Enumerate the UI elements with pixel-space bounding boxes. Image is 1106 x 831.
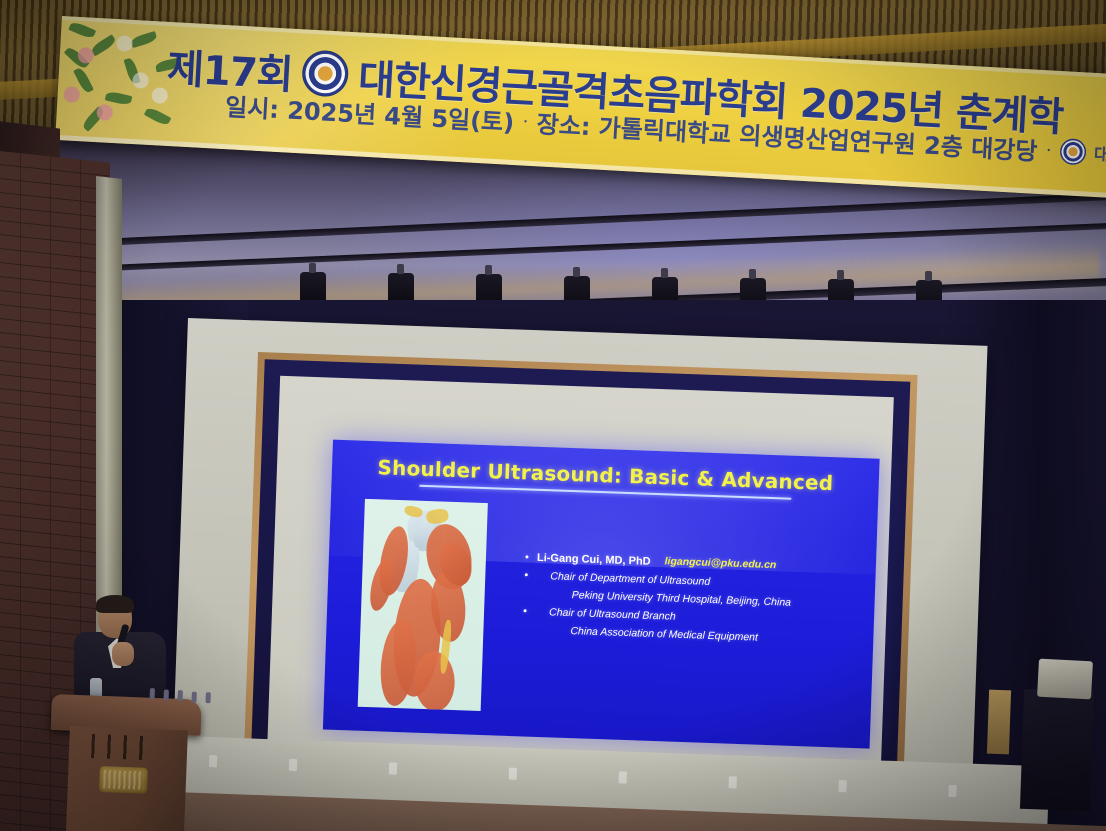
wall-vent bbox=[509, 767, 517, 779]
photo-scene: 제17회 대한신경근골격초음파학회 2025년 춘계학 일시: 2025년 4월… bbox=[0, 0, 1106, 831]
right-equipment-panel bbox=[1037, 659, 1093, 700]
microphone-icon bbox=[191, 691, 196, 702]
microphone-icon bbox=[205, 693, 210, 704]
flower-icon bbox=[63, 86, 80, 103]
muscle-shape bbox=[414, 651, 456, 711]
bullet-marker: • bbox=[525, 550, 538, 565]
microphone-icon bbox=[150, 688, 155, 699]
wall-vent bbox=[948, 784, 956, 796]
wooden-screen-frame: Shoulder Ultrasound: Basic & Advanced • … bbox=[243, 352, 917, 795]
bullet-marker: • bbox=[523, 604, 536, 619]
nerve-shape bbox=[426, 508, 450, 525]
presenter-hair bbox=[96, 595, 134, 613]
flower-icon bbox=[116, 35, 133, 52]
microphone-icon bbox=[164, 689, 169, 700]
shoulder-anatomy-illustration bbox=[358, 499, 488, 711]
nerve-shape bbox=[404, 504, 424, 518]
leaf-icon bbox=[90, 34, 117, 56]
speaker-role-1: Chair of Department of Ultrasound bbox=[550, 569, 710, 590]
wall-vent bbox=[289, 758, 297, 770]
projection-screen: Shoulder Ultrasound: Basic & Advanced • … bbox=[267, 376, 894, 771]
society-emblem-small-icon bbox=[1059, 138, 1086, 165]
banner-separator: · bbox=[522, 109, 530, 132]
speaker-role-2: Chair of Ultrasound Branch bbox=[549, 605, 676, 624]
banner-separator-2: · bbox=[1045, 138, 1053, 161]
presentation-slide: Shoulder Ultrasound: Basic & Advanced • … bbox=[323, 440, 880, 749]
leaf-icon bbox=[144, 106, 172, 127]
presenter-hand bbox=[112, 642, 134, 666]
bullet-marker: • bbox=[524, 568, 537, 583]
lectern-slots bbox=[91, 734, 144, 760]
wall-vent bbox=[619, 771, 627, 783]
flower-icon bbox=[132, 72, 149, 89]
wall-vent bbox=[729, 776, 737, 788]
leaf-icon bbox=[68, 20, 96, 39]
flower-icon bbox=[96, 104, 113, 121]
wall-vent bbox=[209, 755, 217, 767]
institution-plaque bbox=[99, 766, 148, 794]
flower-icon bbox=[77, 47, 94, 64]
speaker-name: Li-Gang Cui, MD, PhD bbox=[537, 551, 651, 570]
leaf-icon bbox=[105, 90, 133, 106]
slide-bullet-list: • Li-Gang Cui, MD, PhD ligangcui@pku.edu… bbox=[522, 550, 861, 652]
screen-inner-border: Shoulder Ultrasound: Basic & Advanced • … bbox=[251, 359, 911, 787]
microphone-icon bbox=[178, 690, 183, 701]
wall-vent bbox=[389, 762, 397, 774]
leaf-icon bbox=[130, 31, 158, 48]
right-equipment-stand bbox=[1020, 689, 1094, 811]
speaker-email: ligangcui@pku.edu.cn bbox=[664, 555, 776, 571]
banner-organization: 대한신경근골격초 bbox=[1093, 140, 1106, 172]
wall-picture-frame bbox=[987, 690, 1011, 755]
wall-vent bbox=[838, 780, 846, 792]
speaker-affiliation-2: China Association of Medical Equipment bbox=[570, 624, 758, 646]
society-emblem-icon bbox=[301, 49, 349, 97]
